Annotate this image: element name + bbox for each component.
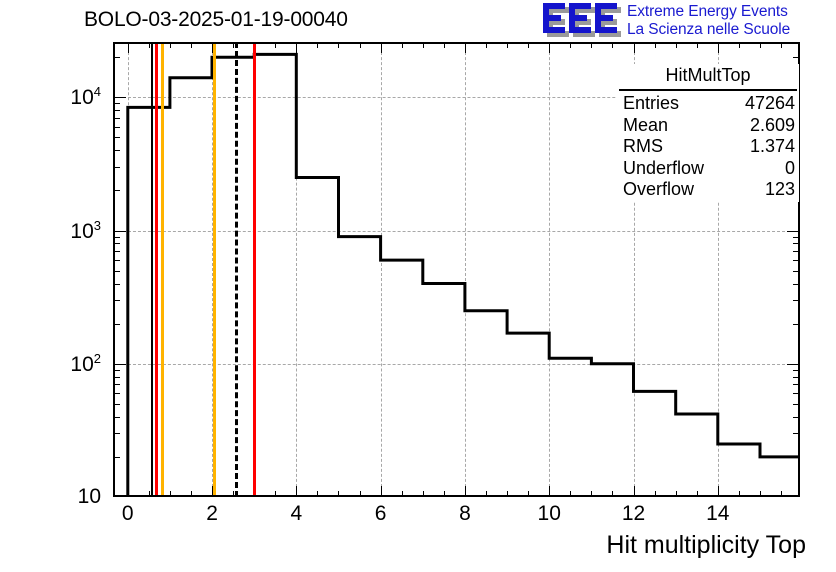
stats-row: Entries47264 (623, 93, 795, 114)
stats-divider (619, 89, 797, 91)
stats-title: HitMultTop (617, 65, 799, 86)
stats-box: HitMultTop Entries47264Mean2.609RMS1.374… (617, 64, 799, 202)
x-axis-title: Hit multiplicity Top (606, 531, 806, 560)
x-tick-label: 12 (622, 502, 645, 526)
logo-line-1: Extreme Energy Events (627, 3, 788, 21)
y-tick-label: 103 (70, 218, 101, 244)
y-axis-tick-labels: 10102103104 (0, 42, 108, 502)
eee-letter-bar (569, 27, 591, 33)
stats-key: RMS (623, 136, 663, 157)
x-tick-label: 14 (706, 502, 729, 526)
stats-key: Overflow (623, 179, 694, 200)
x-tick-label: 8 (459, 502, 471, 526)
stats-key: Mean (623, 115, 668, 136)
stats-key: Underflow (623, 158, 704, 179)
x-tick-label: 4 (290, 502, 302, 526)
x-tick-label: 6 (375, 502, 387, 526)
stats-row: Overflow123 (623, 179, 795, 200)
page-title: BOLO-03-2025-01-19-00040 (84, 8, 348, 32)
eee-letter-bar (543, 15, 561, 21)
x-tick-label: 0 (122, 502, 134, 526)
y-tick-label: 10 (78, 485, 101, 509)
eee-logo: Extreme Energy Events La Scienza nelle S… (543, 2, 835, 40)
x-tick-label: 10 (538, 502, 561, 526)
eee-letter-bar (595, 15, 613, 21)
logo-line-2: La Scienza nelle Scuole (627, 21, 790, 39)
y-tick-label: 102 (70, 351, 101, 377)
eee-letter-bar (569, 15, 587, 21)
stats-value: 123 (765, 179, 795, 200)
y-tick-label: 104 (70, 84, 101, 110)
stats-key: Entries (623, 93, 679, 114)
eee-letter-bar (543, 27, 565, 33)
stats-row: RMS1.374 (623, 136, 795, 157)
stats-value: 2.609 (750, 115, 795, 136)
stats-value: 0 (785, 158, 795, 179)
stats-value: 1.374 (750, 136, 795, 157)
eee-letter-bar (595, 27, 617, 33)
eee-logo-mark (543, 3, 621, 36)
x-axis-tick-labels: 02468101214 (113, 502, 800, 532)
x-tick-label: 2 (206, 502, 218, 526)
stats-row: Mean2.609 (623, 115, 795, 136)
stats-value: 47264 (745, 93, 795, 114)
stats-row: Underflow0 (623, 158, 795, 179)
